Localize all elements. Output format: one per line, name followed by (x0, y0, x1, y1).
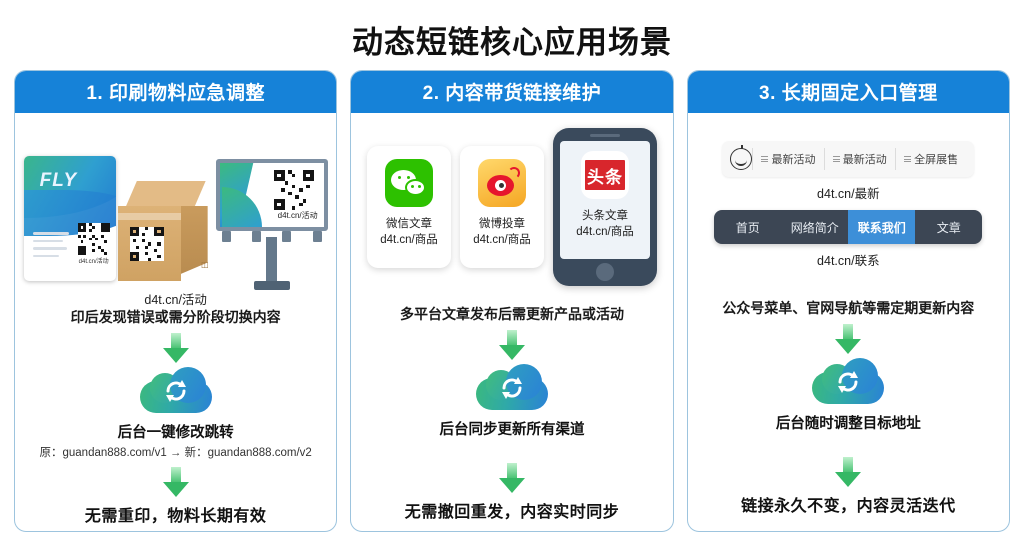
panel-2-flow: 多平台文章发布后需更新产品或活动 后台同步更新所有渠道 (357, 305, 666, 525)
page-title: 动态短链核心应用场景 (0, 0, 1024, 70)
panel-content-commerce: 2. 内容带货链接维护 微信文章 d4t.cn/商 (350, 70, 673, 532)
wechat-icon (385, 159, 433, 207)
panel-1-flow: 印后发现错误或需分阶段切换内容 后台一键修改跳转 原：guandan888.co… (21, 308, 330, 526)
result-text: 链接永久不变，内容灵活迭代 (741, 492, 956, 516)
flyer-text-lines (33, 232, 69, 262)
app-card-label: 头条文章 d4t.cn/商品 (576, 209, 634, 240)
app-card-wechat[interactable]: 微信文章 d4t.cn/商品 (367, 146, 451, 268)
panel-fixed-entry: 3. 长期固定入口管理 最新活动 最新活动 (687, 70, 1010, 532)
menu-item-label: 最新活动 (771, 151, 815, 167)
qr-code-icon (274, 170, 314, 210)
box-fragile-mark: ◫ (201, 260, 210, 269)
app-card-label: 微信文章 d4t.cn/商品 (380, 217, 438, 248)
result-text: 无需撤回重发，内容实时同步 (405, 498, 620, 522)
box-top-face (126, 181, 206, 207)
solution-text: 后台同步更新所有渠道 (439, 418, 584, 439)
billboard-frame: d4t.cn/活动 (216, 159, 328, 231)
panel-3-illustration: 最新活动 最新活动 全屏展售 d4t.cn/最新 首页 (694, 121, 1003, 293)
billboard-qr-block (274, 170, 314, 210)
app-name: 微信文章 (380, 217, 438, 233)
result-text: 无需重印，物料长期有效 (85, 502, 267, 526)
panel-1-header: 1. 印刷物料应急调整 (15, 71, 336, 113)
toutiao-icon: 头条 (581, 151, 629, 199)
phone-mockup: 头条 头条文章 d4t.cn/商品 (553, 128, 657, 286)
app-card-weibo[interactable]: 微博投章 d4t.cn/商品 (460, 146, 544, 268)
menu-bars-icon (833, 155, 840, 164)
billboard-url-label: d4t.cn/活动 (278, 210, 318, 221)
nav-item-about[interactable]: 网络简介 (781, 210, 848, 244)
panel-1-illustration: FLY (21, 121, 330, 293)
panel-2-illustration: 微信文章 d4t.cn/商品 微博投章 d4t.cn/商品 (357, 121, 666, 293)
panel-container: 1. 印刷物料应急调整 FLY (0, 70, 1024, 532)
app-card-label: 微博投章 d4t.cn/商品 (473, 217, 531, 248)
wechat-menu-url: d4t.cn/最新 (817, 183, 880, 202)
arrow-down-icon (499, 463, 525, 493)
menu-bars-icon (904, 155, 911, 164)
phone-home-button[interactable] (596, 263, 614, 281)
arrow-down-icon (835, 324, 861, 354)
arrow-down-icon (835, 457, 861, 487)
app-url: d4t.cn/商品 (380, 233, 438, 249)
app-name: 微博投章 (473, 217, 531, 233)
package-box-graphic: ◫ (118, 181, 214, 285)
wechat-menu-item[interactable]: 最新活动 (824, 148, 895, 170)
nav-item-contact[interactable]: 联系我们 (848, 210, 915, 244)
arrow-down-icon (163, 467, 189, 497)
panel-1-body: FLY (15, 113, 336, 532)
solution-text: 后台一键修改跳转 (118, 421, 234, 442)
flyer-url-label: d4t.cn/活动 (78, 256, 110, 265)
flyer-graphic: FLY (24, 156, 116, 281)
billboard-pole (266, 237, 277, 283)
keyboard-toggle-icon[interactable] (730, 148, 752, 170)
menu-item-label: 全屏展售 (914, 151, 958, 167)
flyer-qr-block: d4t.cn/活动 (78, 223, 110, 265)
app-url: d4t.cn/商品 (473, 233, 531, 249)
wechat-menu-bar: 最新活动 最新活动 全屏展售 (722, 141, 974, 177)
box-qr-block (130, 227, 164, 261)
flyer-brand-text: FLY (40, 170, 77, 192)
phone-speaker (590, 134, 620, 137)
cloud-sync-icon (140, 367, 212, 415)
panel-3-header: 3. 长期固定入口管理 (688, 71, 1009, 113)
phone-screen: 头条 头条文章 d4t.cn/商品 (560, 141, 650, 259)
qr-code-icon (130, 227, 164, 261)
wechat-menu-item[interactable]: 最新活动 (752, 148, 823, 170)
app-url: d4t.cn/商品 (576, 225, 634, 241)
panel-2-body: 微信文章 d4t.cn/商品 微博投章 d4t.cn/商品 (351, 113, 672, 531)
panel-2-header: 2. 内容带货链接维护 (351, 71, 672, 113)
problem-text: 公众号菜单、官网导航等需定期更新内容 (718, 299, 978, 317)
cloud-sync-icon (476, 364, 548, 412)
billboard-base (254, 281, 290, 290)
problem-text: 多平台文章发布后需更新产品或活动 (396, 305, 628, 323)
arrow-down-icon (499, 330, 525, 360)
billboard-graphic: d4t.cn/活动 (216, 153, 328, 293)
wechat-menu-item[interactable]: 全屏展售 (895, 148, 966, 170)
site-nav-bar: 首页 网络简介 联系我们 文章 (714, 210, 982, 244)
solution-text: 后台随时调整目标地址 (776, 412, 921, 433)
panel-3-body: 最新活动 最新活动 全屏展售 d4t.cn/最新 首页 (688, 113, 1009, 531)
billboard-art-circle (222, 187, 262, 227)
nav-item-home[interactable]: 首页 (714, 210, 781, 244)
weibo-icon (478, 159, 526, 207)
qr-code-icon (78, 223, 110, 255)
box-tape (118, 213, 181, 220)
app-name: 头条文章 (576, 209, 634, 225)
menu-bars-icon (761, 155, 768, 164)
problem-text: 印后发现错误或需分阶段切换内容 (67, 308, 285, 326)
site-nav-url: d4t.cn/联系 (817, 250, 880, 269)
toutiao-icon-text: 头条 (583, 158, 627, 192)
cloud-sync-icon (812, 358, 884, 406)
arrow-down-icon (163, 333, 189, 363)
nav-item-articles[interactable]: 文章 (915, 210, 982, 244)
solution-detail-text: 原：guandan888.com/v1 → 新：guandan888.com/v… (40, 444, 312, 460)
menu-item-label: 最新活动 (843, 151, 887, 167)
panel-3-flow: 公众号菜单、官网导航等需定期更新内容 后台随时调整目标地址 (694, 299, 1003, 525)
panel-printed-materials: 1. 印刷物料应急调整 FLY (14, 70, 337, 532)
